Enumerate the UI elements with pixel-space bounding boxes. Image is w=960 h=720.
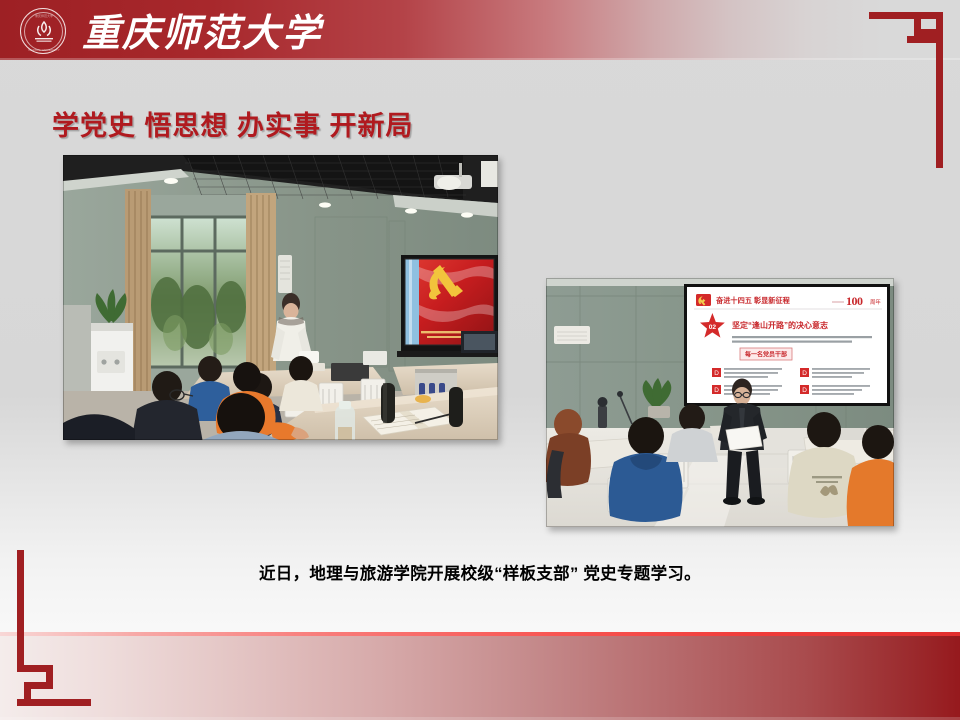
svg-text:D: D [802, 370, 807, 377]
svg-text:100: 100 [846, 294, 863, 308]
svg-text:每一名党员干部: 每一名党员干部 [744, 351, 787, 359]
university-seal-icon: 重庆师范大学 NORMAL UNIVERSITY [20, 8, 66, 54]
classroom-meeting-photo [63, 155, 498, 440]
university-wordmark: 重庆师范大学 [82, 5, 332, 57]
header-band: 重庆师范大学 NORMAL UNIVERSITY 重庆师范大学 [0, 0, 960, 60]
svg-text:重庆师范大学: 重庆师范大学 [35, 13, 53, 18]
corner-ornament-bottom-left [0, 540, 108, 720]
slide-caption: 近日，地理与旅游学院开展校级“样板支部” 党史专题学习。 [0, 560, 960, 584]
svg-text:周年: 周年 [870, 298, 881, 306]
slide-header-title: 奋进十四五 彰显新征程 [715, 296, 791, 305]
svg-text:D: D [714, 370, 719, 377]
slide-canvas: 重庆师范大学 NORMAL UNIVERSITY 重庆师范大学 学党史 悟思想 … [0, 0, 960, 720]
svg-text:D: D [714, 387, 719, 394]
wordmark-text: 重庆师范大学 [82, 12, 325, 55]
seal-emblem-icon: 重庆师范大学 NORMAL UNIVERSITY [21, 9, 67, 55]
corner-ornament-top-right [852, 0, 960, 175]
bottom-decorative-band [0, 632, 960, 720]
page-title: 学党史 悟思想 办实事 开新局 [52, 104, 414, 143]
svg-text:坚定“逢山开路”的决心意志: 坚定“逢山开路”的决心意志 [732, 320, 828, 330]
svg-text:02: 02 [709, 324, 717, 331]
svg-text:NORMAL UNIVERSITY: NORMAL UNIVERSITY [28, 48, 60, 52]
svg-text:D: D [802, 387, 807, 394]
lecture-presentation-photo: 奋进十四五 彰显新征程 100 周年 02 坚定“逢山开路”的决心意志 [546, 278, 894, 527]
